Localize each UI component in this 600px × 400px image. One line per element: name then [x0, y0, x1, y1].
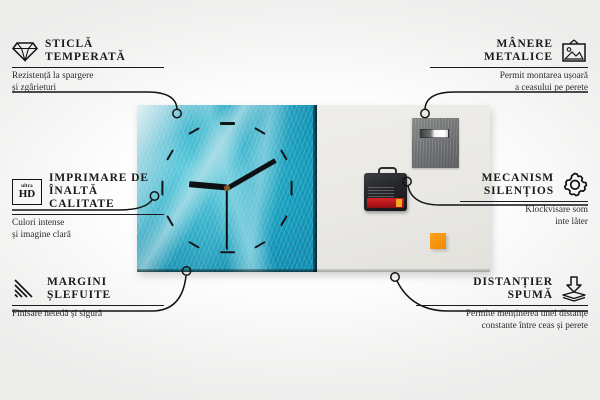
callout-rule — [12, 305, 164, 306]
clock-tick — [290, 180, 292, 195]
callout-title: MECANISM SILENȚIOS — [482, 172, 554, 198]
callout-subtitle: Permit montarea ușoară a ceasului pe per… — [430, 71, 588, 93]
callout-subtitle: Klockvisare som inte låter — [460, 205, 588, 227]
callout-header: MECANISM SILENȚIOS — [460, 172, 588, 198]
callout-header: ultra HD IMPRIMARE DE ÎNALTĂ CALITATE — [12, 172, 164, 211]
callout-title: IMPRIMARE DE ÎNALTĂ CALITATE — [49, 172, 164, 211]
foam-spacer — [430, 233, 446, 249]
callout-subtitle: Rezistență la spargere și zgârieturi — [12, 71, 164, 93]
callout-polished-edges: MARGINI ȘLEFUITE Finisare netedă și sigu… — [12, 276, 164, 321]
callout-header: DISTANȚIER SPUMĂ — [416, 276, 588, 302]
clock-center-cap — [224, 185, 230, 191]
callout-header: STICLĂ TEMPERATĂ — [12, 38, 164, 64]
callout-subtitle: Culori intense și imagine clară — [12, 218, 164, 240]
callout-rule — [460, 201, 588, 202]
back-edge-bottom — [317, 269, 490, 272]
callout-title: STICLĂ TEMPERATĂ — [45, 38, 126, 64]
product-image — [137, 105, 490, 272]
callout-title: MARGINI ȘLEFUITE — [47, 276, 111, 302]
battery — [367, 198, 404, 208]
callout-rule — [430, 67, 588, 68]
clock-tick — [220, 122, 235, 124]
callout-title: MÂNERE METALICE — [484, 38, 553, 64]
callout-tempered-glass: STICLĂ TEMPERATĂ Rezistență la spargere … — [12, 38, 164, 94]
infographic-canvas: STICLĂ TEMPERATĂ Rezistență la spargere … — [0, 0, 600, 400]
callout-silent-mechanism: MECANISM SILENȚIOS Klockvisare som inte … — [460, 172, 588, 228]
callout-foam-spacer: DISTANȚIER SPUMĂ Permite menținerea unei… — [416, 276, 588, 332]
callout-title: DISTANȚIER SPUMĂ — [473, 276, 553, 302]
callout-subtitle: Permite menținerea unei distanțe constan… — [416, 309, 588, 331]
clock-edge-bottom — [137, 269, 317, 272]
callout-header: MARGINI ȘLEFUITE — [12, 276, 164, 302]
gear-icon — [561, 172, 588, 198]
clock-mechanism — [364, 167, 407, 211]
callout-rule — [12, 67, 164, 68]
ultra-hd-icon: ultra HD — [12, 179, 42, 205]
mechanism-print — [368, 185, 394, 197]
clock-face — [137, 105, 317, 272]
polished-edges-icon — [12, 278, 40, 300]
callout-rule — [12, 214, 164, 215]
callout-header: MÂNERE METALICE — [430, 38, 588, 64]
second-hand — [226, 188, 228, 250]
callout-rule — [416, 305, 588, 306]
ultra-hd-icon-main-label: HD — [19, 189, 36, 200]
mechanism-body — [364, 173, 407, 211]
callout-subtitle: Finisare netedă și sigură — [12, 309, 164, 320]
foam-spacer-icon — [560, 276, 588, 302]
callout-metal-handles: MÂNERE METALICE Permit montarea ușoară a… — [430, 38, 588, 94]
picture-frame-icon — [560, 39, 588, 63]
callout-print-quality: ultra HD IMPRIMARE DE ÎNALTĂ CALITATE Cu… — [12, 172, 164, 241]
metal-hanger-plate — [412, 118, 459, 168]
diamond-icon — [12, 40, 38, 62]
hanger-slot — [419, 129, 449, 138]
